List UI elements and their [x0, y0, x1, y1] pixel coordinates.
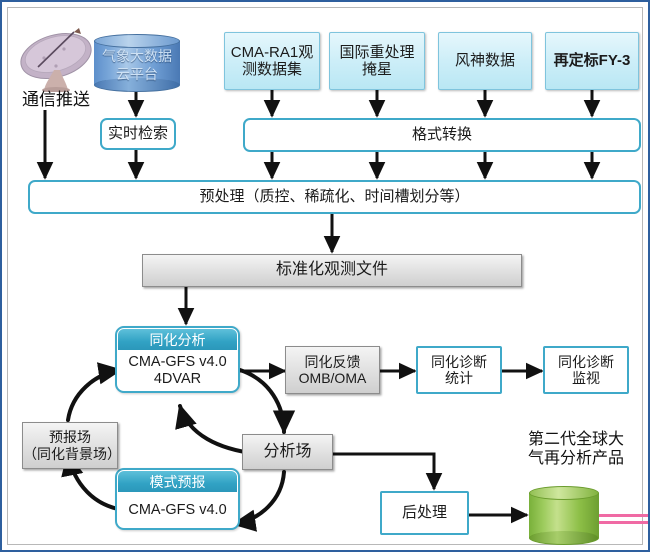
source-intl-ro-line2: 掩星: [362, 61, 392, 78]
format-conversion-box[interactable]: 格式转换: [243, 118, 641, 152]
source-fy3-line1: 再定标FY-3: [554, 52, 631, 69]
product-link-line-2: [599, 521, 650, 524]
product-link-line-1: [599, 514, 650, 517]
assimilation-header: 同化分析: [118, 329, 237, 350]
cloud-platform-line1: 气象大数据: [94, 48, 180, 66]
cloud-platform-line2: 云平台: [94, 66, 180, 84]
postprocess-box[interactable]: 后处理: [380, 491, 469, 535]
analysis-field-label: 分析场: [263, 443, 311, 461]
satellite-dish-icon: [16, 20, 96, 92]
background-line1: 预报场: [49, 429, 91, 445]
standard-file-label: 标准化观测文件: [276, 261, 388, 279]
monitor-line2: 监视: [572, 370, 600, 386]
standard-observation-file-box[interactable]: 标准化观测文件: [142, 254, 522, 287]
assimilation-line1: CMA-GFS v4.0: [128, 354, 226, 371]
model-forecast-header: 模式预报: [118, 471, 237, 492]
stats-line1: 同化诊断: [431, 354, 487, 370]
preprocess-box[interactable]: 预处理（质控、稀疏化、时间槽划分等）: [28, 180, 641, 214]
product-line2: 气再分析产品: [507, 449, 645, 468]
feedback-line2: OMB/OMA: [299, 370, 367, 386]
cloud-platform-cylinder: 气象大数据 云平台: [94, 34, 180, 92]
source-box-international-ro[interactable]: 国际重处理 掩星: [329, 32, 425, 90]
product-line1: 第二代全球大: [507, 430, 645, 449]
assimilation-analysis-panel[interactable]: 同化分析 CMA-GFS v4.0 4DVAR: [115, 326, 240, 393]
stats-line2: 统计: [445, 370, 473, 386]
format-conversion-label: 格式转换: [412, 126, 472, 143]
source-box-fy3-recal[interactable]: 再定标FY-3: [545, 32, 639, 90]
product-label: 第二代全球大 气再分析产品: [507, 430, 645, 468]
realtime-retrieval-box[interactable]: 实时检索: [100, 118, 176, 150]
realtime-retrieval-label: 实时检索: [108, 125, 168, 142]
assimilation-line2: 4DVAR: [154, 371, 201, 388]
source-box-cma-ra1[interactable]: CMA-RA1观 测数据集: [224, 32, 320, 90]
model-forecast-panel[interactable]: 模式预报 CMA-GFS v4.0: [115, 468, 240, 530]
source-aeolus-line1: 风神数据: [455, 52, 515, 69]
assimilation-diagnostic-monitor-box[interactable]: 同化诊断 监视: [543, 346, 629, 394]
feedback-line1: 同化反馈: [305, 354, 361, 370]
reanalysis-product-cylinder: [529, 486, 599, 545]
source-intl-ro-line1: 国际重处理: [339, 44, 414, 61]
source-cma-ra1-line2: 测数据集: [242, 61, 302, 78]
preprocess-label: 预处理（质控、稀疏化、时间槽划分等）: [199, 188, 469, 205]
assimilation-diagnostic-stats-box[interactable]: 同化诊断 统计: [416, 346, 502, 394]
monitor-line1: 同化诊断: [558, 354, 614, 370]
background-field-box[interactable]: 预报场 （同化背景场）: [22, 422, 118, 469]
background-line2: （同化背景场）: [23, 446, 117, 462]
diagram-canvas: 通信推送 气象大数据 云平台 CMA-RA1观 测数据集 国际重处理 掩星 风神…: [0, 0, 650, 552]
postprocess-label: 后处理: [402, 504, 447, 521]
comms-label: 通信推送: [8, 90, 104, 110]
source-box-aeolus[interactable]: 风神数据: [438, 32, 532, 90]
analysis-field-box[interactable]: 分析场: [242, 434, 333, 470]
model-forecast-line1: CMA-GFS v4.0: [128, 502, 226, 519]
source-cma-ra1-line1: CMA-RA1观: [231, 44, 314, 61]
assimilation-feedback-box[interactable]: 同化反馈 OMB/OMA: [285, 346, 380, 394]
